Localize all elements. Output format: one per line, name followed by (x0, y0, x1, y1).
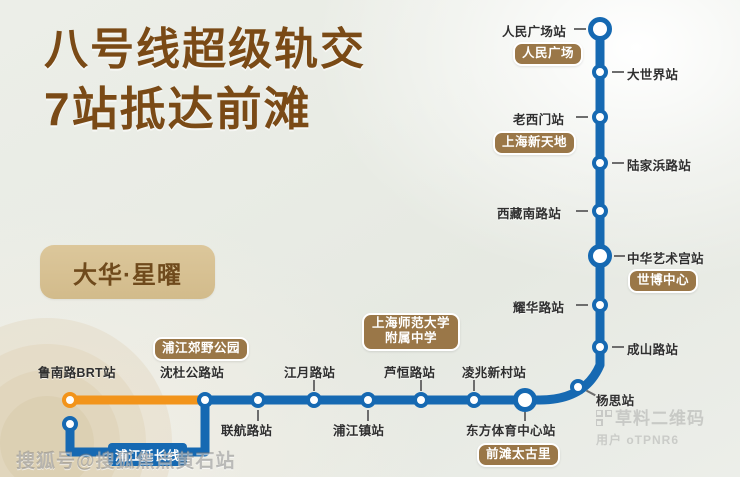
station-dot-yangsi[interactable] (570, 379, 586, 395)
station-label-yangsi: 杨思站 (596, 390, 634, 409)
station-label-lujiabang-lu: 陆家浜路站 (627, 155, 691, 174)
poi-badge-qiantan-taikooli: 前滩太古里 (477, 443, 560, 467)
station-label-lunan-lu-brt: 鲁南路BRT站 (38, 362, 116, 381)
station-label-jiangyue-lu: 江月路站 (284, 362, 335, 381)
station-dot-lunan-lu-brt[interactable] (62, 392, 78, 408)
station-tick (574, 28, 586, 30)
station-label-shendu-gonglu: 沈杜公路站 (160, 362, 224, 381)
poi-badge-line-1: 上海师范大学 (372, 316, 450, 331)
station-tick (576, 304, 588, 306)
station-tick (612, 346, 624, 348)
station-label-pujiang-zhen: 浦江镇站 (333, 420, 384, 439)
station-label-laoximen: 老西门站 (513, 109, 564, 128)
station-dot-dashijie[interactable] (592, 64, 608, 80)
station-tick (420, 380, 422, 391)
station-label-lingzhao-xincun: 凌兆新村站 (462, 362, 526, 381)
station-dot-luheng-lu[interactable] (413, 392, 429, 408)
station-label-yaohua-lu: 耀华路站 (513, 297, 564, 316)
station-tick (612, 162, 624, 164)
station-tick (313, 380, 315, 391)
station-dot-chengshan-lu[interactable] (592, 339, 608, 355)
station-label-renmin-guangchang: 人民广场站 (502, 21, 566, 40)
station-dot-pujiang-zhen[interactable] (360, 392, 376, 408)
station-dot-lianhang-lu[interactable] (250, 392, 266, 408)
station-tick (576, 210, 588, 212)
station-dot-dongfang-tiyu-zhongxin[interactable] (513, 388, 537, 412)
station-label-luheng-lu: 芦恒路站 (384, 362, 435, 381)
station-label-zhonghua-yishugong: 中华艺术宫站 (627, 248, 704, 267)
station-tick (612, 71, 624, 73)
station-dot-renmin-guangchang[interactable] (588, 17, 612, 41)
station-dot-zhonghua-yishugong[interactable] (588, 244, 612, 268)
poi-badge-pujiang-jiaoye-gongyuan: 浦江郊野公园 (153, 337, 249, 361)
station-label-dashijie: 大世界站 (627, 64, 678, 83)
station-label-chengshan-lu: 成山路站 (627, 339, 678, 358)
station-dot-lujiabang-lu[interactable] (592, 155, 608, 171)
station-dot-shendu-gonglu[interactable] (197, 392, 213, 408)
station-label-xizang-nanlu: 西藏南路站 (497, 203, 561, 222)
station-dot-laoximen[interactable] (592, 109, 608, 125)
station-dot-lingzhao-xincun[interactable] (466, 392, 482, 408)
poi-badge-xintiandi: 上海新天地 (493, 131, 576, 155)
poi-badge-shibo-zhongxin: 世博中心 (628, 269, 698, 293)
poi-badge-line-2: 附属中学 (372, 331, 450, 346)
station-dot-xizang-nanlu[interactable] (592, 203, 608, 219)
station-tick (576, 116, 588, 118)
station-tick (473, 380, 475, 391)
poi-badge-shishida-fuzhong: 上海师范大学 附属中学 (362, 313, 460, 351)
station-dot-branch-terminus[interactable] (62, 416, 78, 432)
station-label-dongfang-tiyu-zhongxin: 东方体育中心站 (466, 420, 556, 439)
station-label-lianhang-lu: 联航路站 (221, 420, 272, 439)
station-dot-yaohua-lu[interactable] (592, 297, 608, 313)
branch-line-badge: 浦江延长线 (108, 443, 187, 466)
metro-line-poster: 八号线超级轨交 7站抵达前滩 大华·星曜 人民广场站 人民广场 大世界站 老西门… (0, 0, 740, 477)
station-tick (614, 255, 625, 257)
station-dot-jiangyue-lu[interactable] (306, 392, 322, 408)
poi-badge-renmin-guangchang: 人民广场 (513, 42, 583, 66)
